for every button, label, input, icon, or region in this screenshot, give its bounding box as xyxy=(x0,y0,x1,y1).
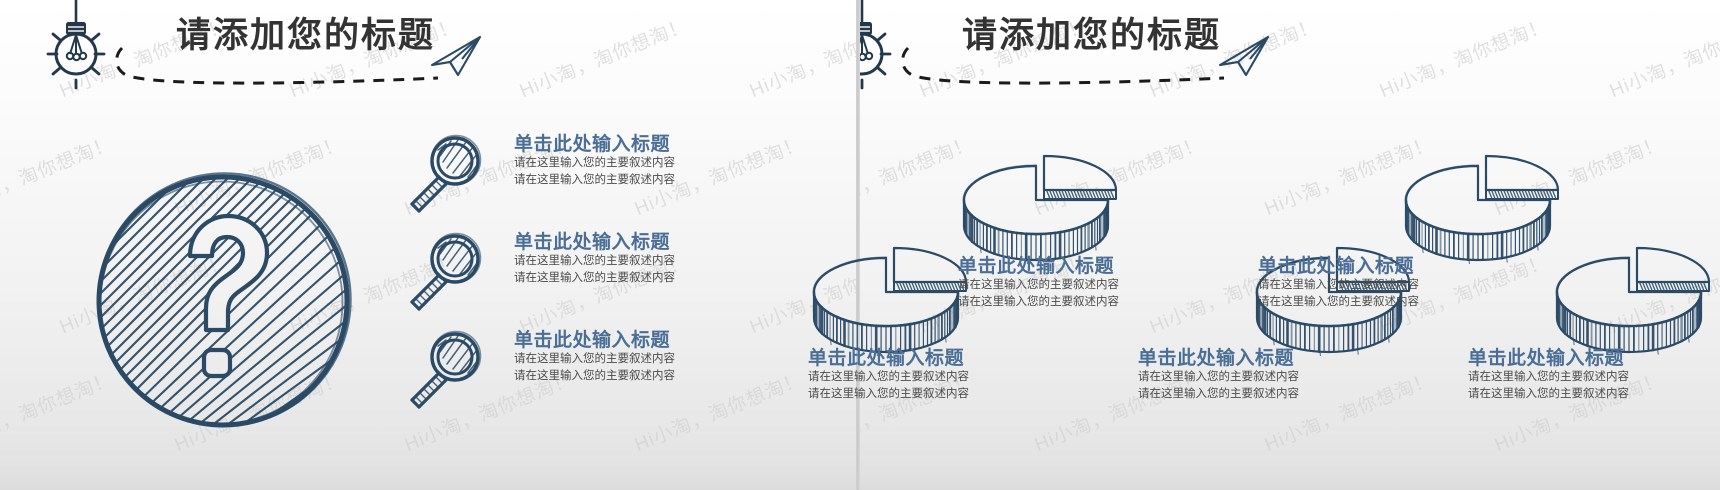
watermark-text: Hi小淘，淘你想淘！ xyxy=(1605,483,1720,490)
watermark-text: Hi小淘，淘你想淘！ xyxy=(0,483,2,490)
pie-caption-line2: 请在这里输入您的主要叙述内容 xyxy=(1468,387,1718,403)
pie-chart-svg xyxy=(1543,240,1715,356)
pie-caption-4: 单击此处输入标题 请在这里输入您的主要叙述内容 请在这里输入您的主要叙述内容 xyxy=(1258,256,1508,311)
paper-plane-icon xyxy=(1216,31,1276,79)
list-item-line2: 请在这里输入您的主要叙述内容 xyxy=(514,173,744,189)
watermark-text: Hi小淘，淘你想淘！ xyxy=(55,483,232,490)
list-item-title: 单击此处输入标题 xyxy=(514,134,744,155)
pie-caption-5: 单击此处输入标题 请在这里输入您的主要叙述内容 请在这里输入您的主要叙述内容 xyxy=(1468,348,1718,403)
pie-caption-3: 单击此处输入标题 请在这里输入您的主要叙述内容 请在这里输入您的主要叙述内容 xyxy=(1138,348,1388,403)
pie-caption-line1: 请在这里输入您的主要叙述内容 xyxy=(1258,278,1508,294)
watermark-text: Hi小淘，淘你想淘！ xyxy=(860,483,862,490)
lightbulb-icon xyxy=(34,0,118,92)
pie-chart-4[interactable] xyxy=(1392,148,1564,264)
watermark-text: Hi小淘，淘你想淘！ xyxy=(1145,483,1322,490)
question-mark-circle-icon xyxy=(86,164,361,439)
list-item-text: 单击此处输入标题 请在这里输入您的主要叙述内容 请在这里输入您的主要叙述内容 xyxy=(514,330,744,385)
dashed-path xyxy=(112,36,442,88)
pie-chart-svg xyxy=(950,148,1122,264)
watermark-text: Hi小淘，淘你想淘！ xyxy=(915,483,1092,490)
list-item-line2: 请在这里输入您的主要叙述内容 xyxy=(514,271,744,287)
pie-caption-line1: 请在这里输入您的主要叙述内容 xyxy=(808,370,1058,386)
pie-caption-line2: 请在这里输入您的主要叙述内容 xyxy=(1138,387,1388,403)
pie-chart-5[interactable] xyxy=(1543,240,1715,356)
list-item-line1: 请在这里输入您的主要叙述内容 xyxy=(514,254,744,270)
watermark-text: Hi小淘，淘你想淘！ xyxy=(515,483,692,490)
presentation-preview: Hi小淘，淘你想淘！Hi小淘，淘你想淘！Hi小淘，淘你想淘！Hi小淘，淘你想淘！… xyxy=(0,0,1720,490)
pie-caption-line2: 请在这里输入您的主要叙述内容 xyxy=(808,387,1058,403)
magnifier-icon xyxy=(398,128,494,224)
watermark-text: Hi小淘，淘你想淘！ xyxy=(1375,483,1552,490)
list-item-line1: 请在这里输入您的主要叙述内容 xyxy=(514,156,744,172)
pie-chart-svg xyxy=(1392,148,1564,264)
watermark-text: Hi小淘，淘你想淘！ xyxy=(745,483,856,490)
pie-caption-2: 单击此处输入标题 请在这里输入您的主要叙述内容 请在这里输入您的主要叙述内容 xyxy=(958,256,1208,311)
pie-caption-1: 单击此处输入标题 请在这里输入您的主要叙述内容 请在这里输入您的主要叙述内容 xyxy=(808,348,1058,403)
list-item-title: 单击此处输入标题 xyxy=(514,232,744,253)
list-item-text: 单击此处输入标题 请在这里输入您的主要叙述内容 请在这里输入您的主要叙述内容 xyxy=(514,134,744,189)
watermark-text: Hi小淘，淘你想淘！ xyxy=(0,247,2,339)
pie-caption-title: 单击此处输入标题 xyxy=(808,348,1058,369)
watermark-text: Hi小淘，淘你想淘！ xyxy=(285,483,462,490)
slide-left[interactable]: Hi小淘，淘你想淘！Hi小淘，淘你想淘！Hi小淘，淘你想淘！Hi小淘，淘你想淘！… xyxy=(0,0,856,490)
pie-chart-2[interactable] xyxy=(950,148,1122,264)
pie-caption-line2: 请在这里输入您的主要叙述内容 xyxy=(958,295,1208,311)
pie-caption-line1: 请在这里输入您的主要叙述内容 xyxy=(1138,370,1388,386)
dashed-path xyxy=(898,36,1228,88)
pie-caption-title: 单击此处输入标题 xyxy=(958,256,1208,277)
magnifier-icon xyxy=(398,226,494,322)
list-item-text: 单击此处输入标题 请在这里输入您的主要叙述内容 请在这里输入您的主要叙述内容 xyxy=(514,232,744,287)
list-item-line1: 请在这里输入您的主要叙述内容 xyxy=(514,352,744,368)
paper-plane-icon xyxy=(428,31,488,79)
pie-caption-title: 单击此处输入标题 xyxy=(1468,348,1718,369)
pie-chart-svg xyxy=(800,240,972,356)
pie-caption-line1: 请在这里输入您的主要叙述内容 xyxy=(1468,370,1718,386)
list-item-title: 单击此处输入标题 xyxy=(514,330,744,351)
pie-caption-title: 单击此处输入标题 xyxy=(1258,256,1508,277)
pie-caption-title: 单击此处输入标题 xyxy=(1138,348,1388,369)
list-item-line2: 请在这里输入您的主要叙述内容 xyxy=(514,369,744,385)
slide-header-right: 请添加您的标题 xyxy=(860,0,1720,105)
slide-header-left: 请添加您的标题 xyxy=(0,0,856,105)
pie-caption-line1: 请在这里输入您的主要叙述内容 xyxy=(958,278,1208,294)
pie-chart-1[interactable] xyxy=(800,240,972,356)
pie-caption-line2: 请在这里输入您的主要叙述内容 xyxy=(1258,295,1508,311)
magnifier-icon xyxy=(398,324,494,420)
